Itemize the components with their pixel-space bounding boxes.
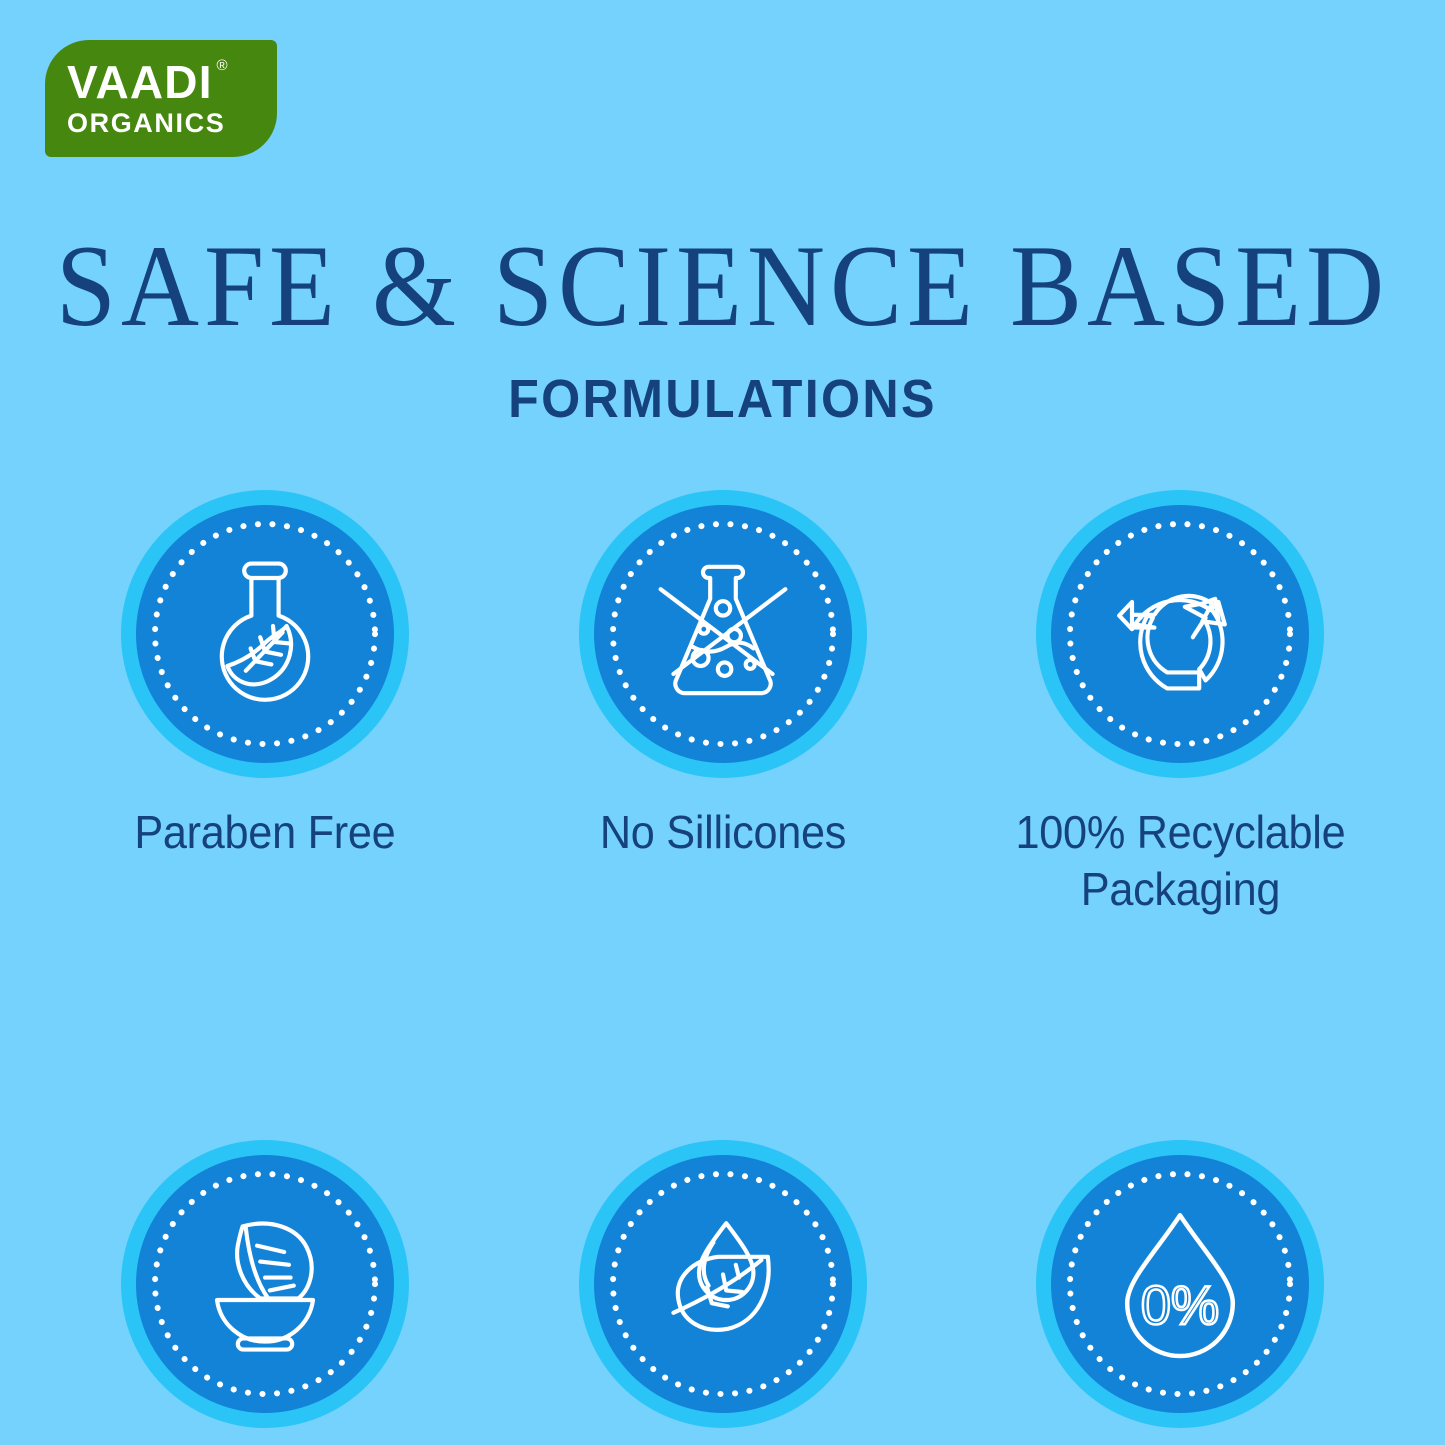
brand-sub-name: ORGANICS [67, 109, 225, 137]
brand-name-text: VAADI [67, 56, 213, 108]
feature-label: Paraben Free [134, 804, 395, 861]
feature-row-top: Paraben Free [60, 490, 1385, 918]
feature-badge [121, 1140, 409, 1428]
flask-crossed-out-icon [643, 554, 803, 714]
feature-badge [121, 490, 409, 778]
brand-logo-text-group: VAADI® ORGANICS [45, 40, 277, 157]
recycle-icon [1100, 554, 1260, 714]
feature-row-bottom: Vegan [60, 1140, 1385, 1445]
droplet-leaf-icon [643, 1204, 803, 1364]
feature-label: 100% Recyclable Packaging [1015, 804, 1345, 918]
feature-item-recyclable-packaging: 100% Recyclable Packaging [975, 490, 1385, 918]
page-subtitle: FORMULATIONS [51, 372, 1395, 426]
feature-badge [579, 490, 867, 778]
flask-leaf-icon [185, 554, 345, 714]
feature-badge: 0% [1036, 1140, 1324, 1428]
feature-badge [579, 1140, 867, 1428]
page-title: SAFE & SCIENCE BASED [0, 228, 1445, 347]
feature-item-non-toxic: Non Toxic [518, 1140, 928, 1445]
feature-item-alcohol-free: 0% Alcohol Free [975, 1140, 1385, 1445]
feature-item-paraben-free: Paraben Free [60, 490, 470, 861]
droplet-zero-percent-icon: 0% [1100, 1204, 1260, 1364]
feature-label: No Sillicones [599, 804, 845, 861]
registered-trademark-icon: ® [216, 58, 228, 73]
infographic-canvas: VAADI® ORGANICS SAFE & SCIENCE BASED FOR… [0, 0, 1445, 1445]
feature-item-no-sillicones: No Sillicones [518, 490, 928, 861]
brand-name: VAADI® [67, 60, 213, 105]
feature-item-vegan: Vegan [60, 1140, 470, 1445]
zero-percent-label: 0% [1141, 1275, 1220, 1336]
feature-grid: Paraben Free [60, 490, 1385, 1445]
feature-badge [1036, 490, 1324, 778]
bowl-leaf-icon [185, 1204, 345, 1364]
brand-logo: VAADI® ORGANICS [45, 40, 277, 157]
